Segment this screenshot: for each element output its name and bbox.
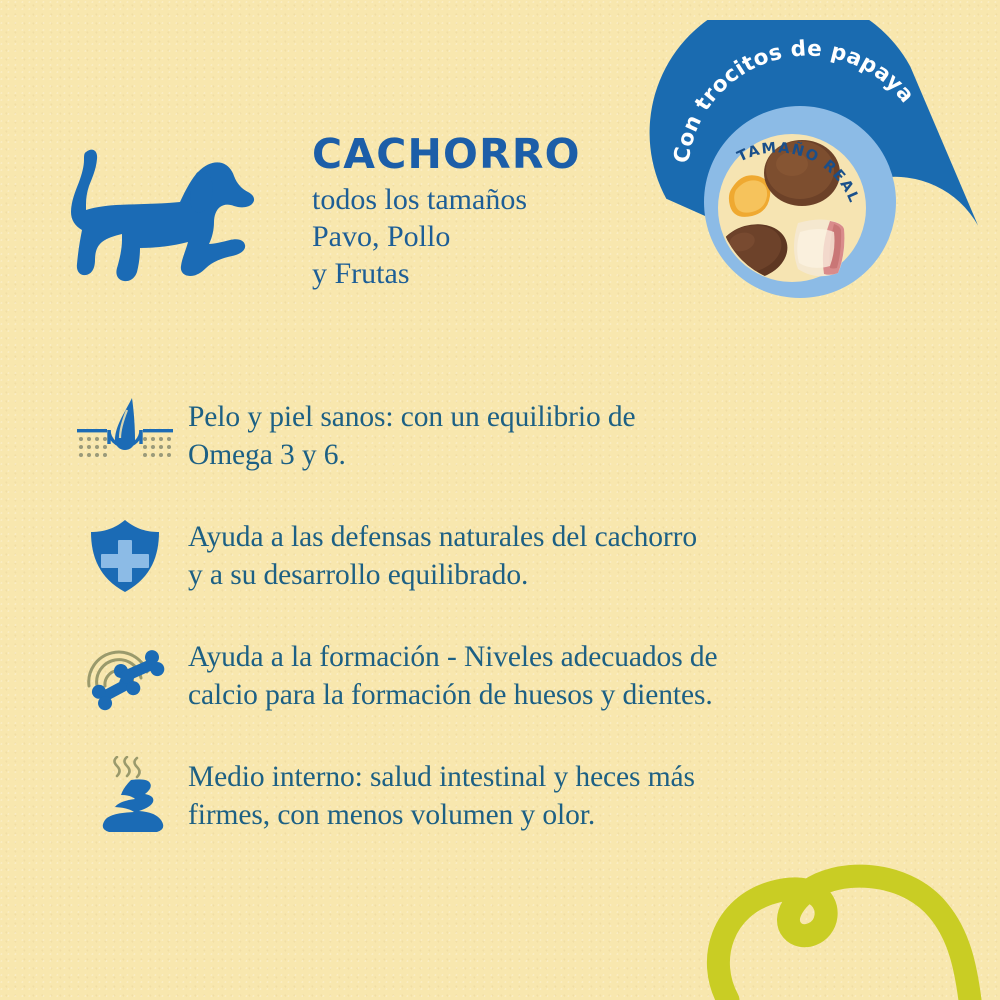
product-title-block: CACHORRO todos los tamaños Pavo, Pollo y… bbox=[312, 128, 581, 293]
hair-skin-drop-icon bbox=[62, 392, 188, 476]
puppy-silhouette-icon bbox=[62, 134, 262, 294]
benefit-row-defenses: Ayuda a las defensas naturales del cacho… bbox=[62, 512, 942, 632]
benefit-text: Ayuda a las defensas naturales del cacho… bbox=[188, 512, 697, 595]
product-info-panel: CACHORRO todos los tamaños Pavo, Pollo y… bbox=[0, 0, 1000, 1000]
benefit-text: Ayuda a la formación - Niveles adecuados… bbox=[188, 632, 718, 715]
product-subtitle: todos los tamaños Pavo, Pollo y Frutas bbox=[312, 181, 581, 293]
benefits-list: Pelo y piel sanos: con un equilibrio de … bbox=[62, 392, 942, 872]
benefit-text: Pelo y piel sanos: con un equilibrio de … bbox=[188, 392, 636, 475]
benefit-row-bones: Ayuda a la formación - Niveles adecuados… bbox=[62, 632, 942, 752]
benefit-row-internal: Medio interno: salud intestinal y heces … bbox=[62, 752, 942, 872]
shield-plus-icon bbox=[62, 512, 188, 596]
page-title: CACHORRO bbox=[312, 134, 581, 175]
product-header: CACHORRO todos los tamaños Pavo, Pollo y… bbox=[62, 128, 581, 294]
benefit-text: Medio interno: salud intestinal y heces … bbox=[188, 752, 695, 835]
apple-slice-piece bbox=[794, 219, 844, 276]
benefit-row-hair-skin: Pelo y piel sanos: con un equilibrio de … bbox=[62, 392, 942, 512]
real-size-badge: Con trocitos de papaya y manzana TAMAÑO … bbox=[640, 20, 980, 330]
bones-growth-icon bbox=[62, 632, 188, 716]
stool-icon bbox=[62, 752, 188, 836]
